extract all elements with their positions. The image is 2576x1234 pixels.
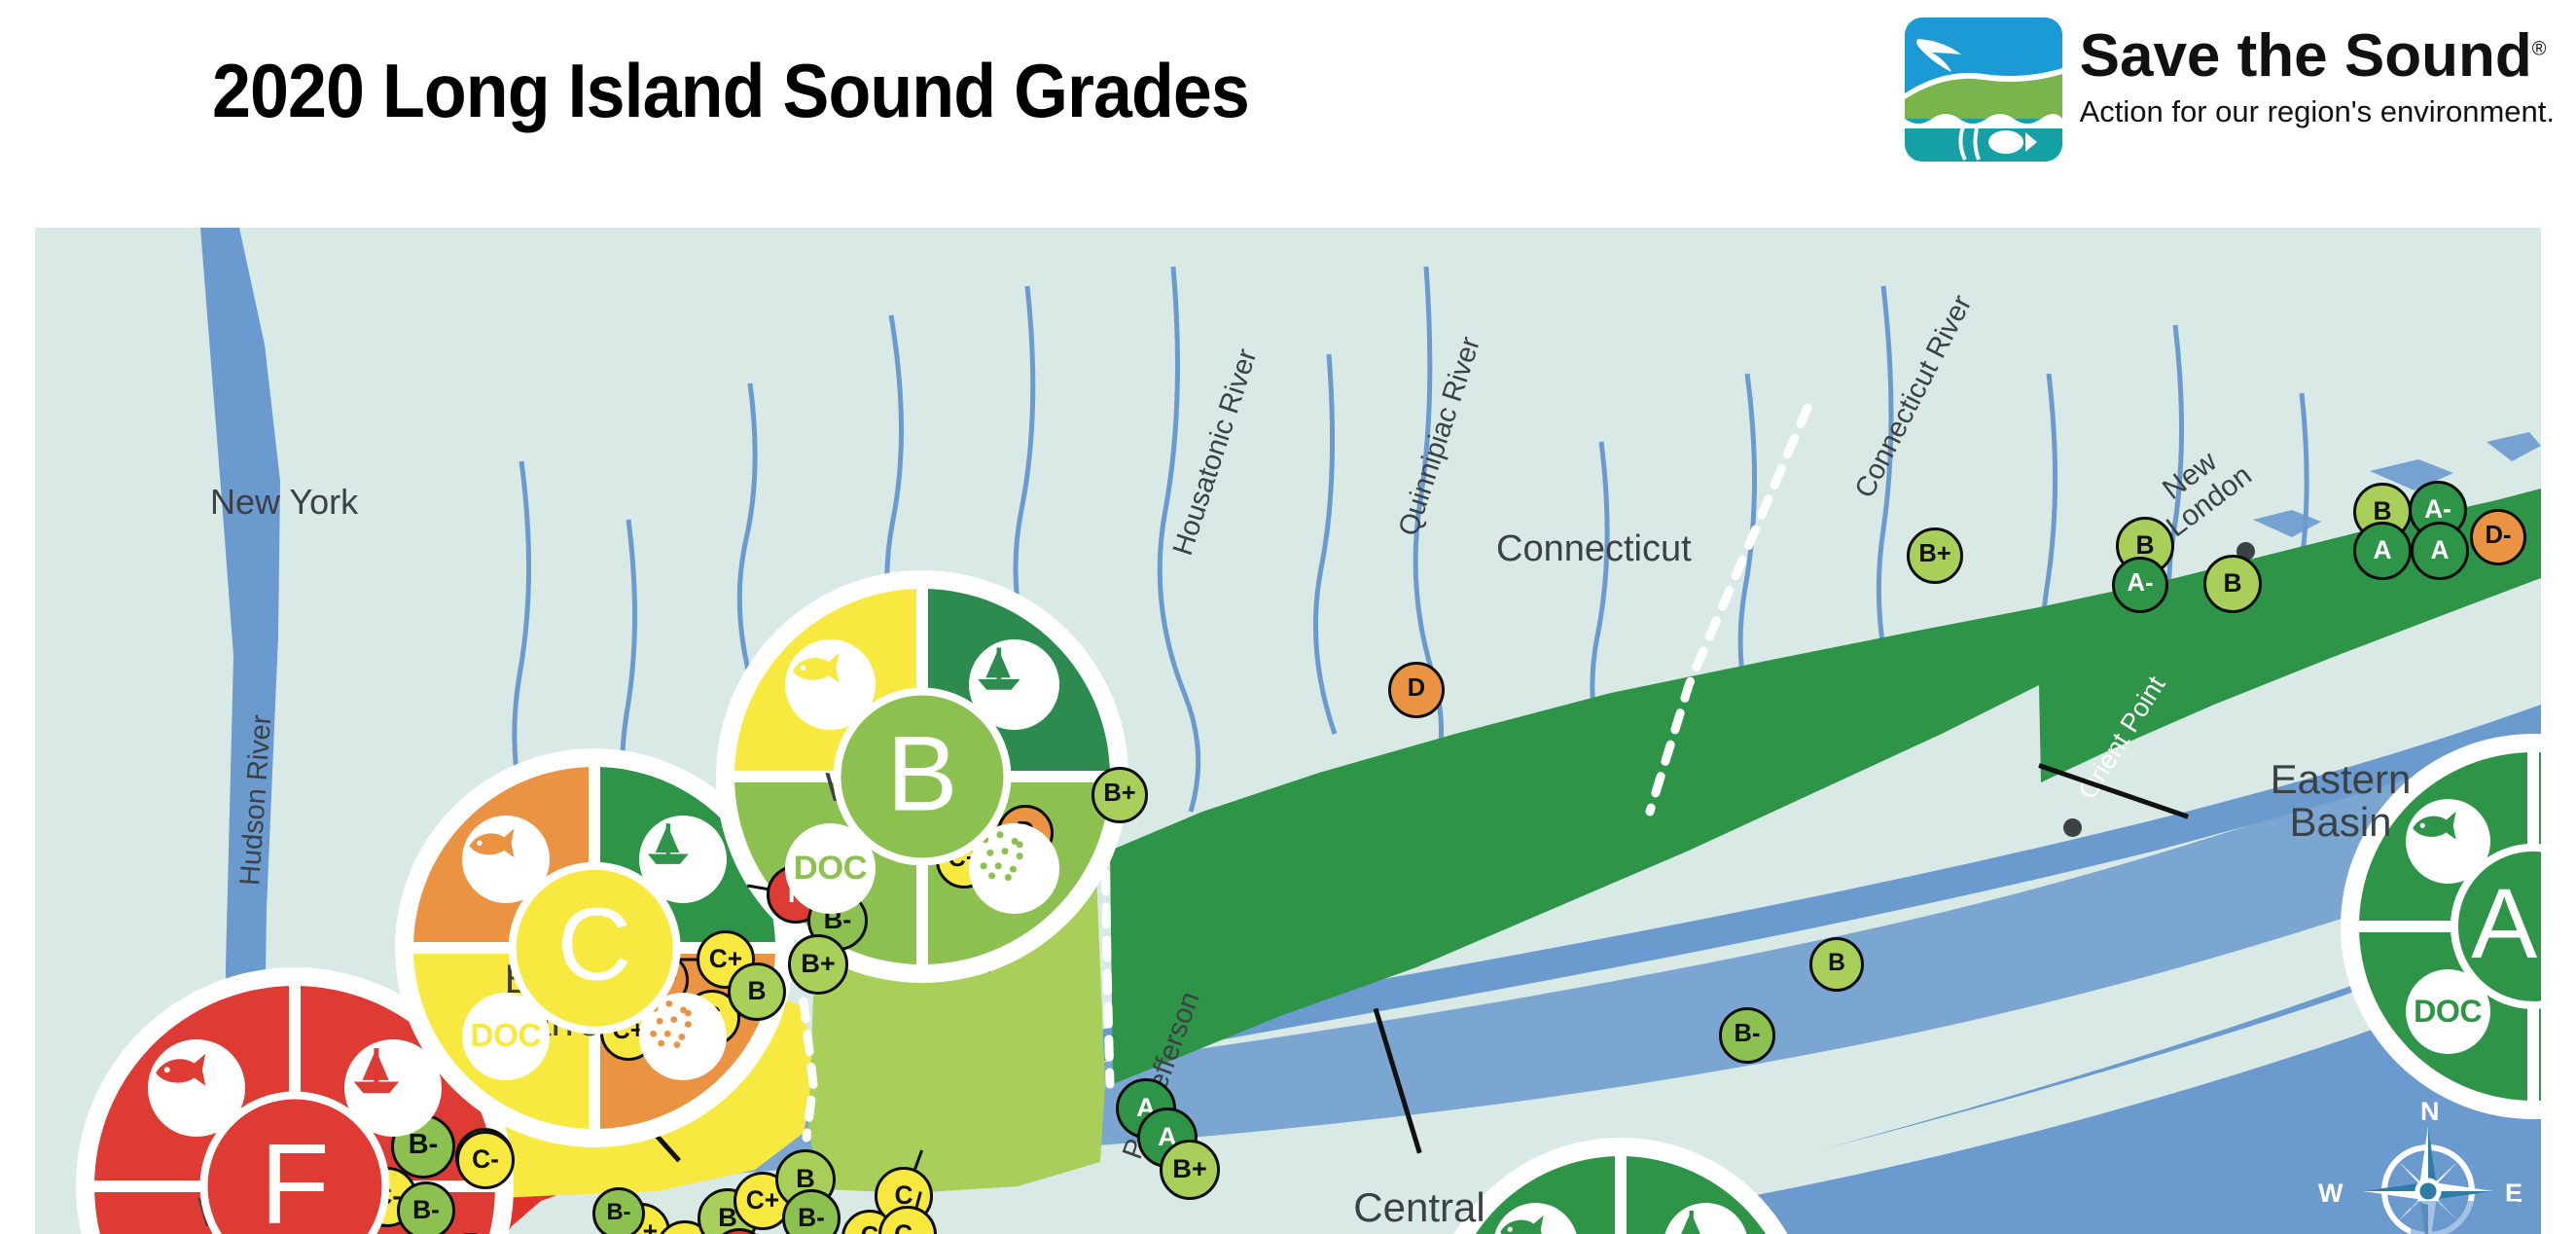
compass-west-label: W — [2318, 1179, 2343, 1209]
grade-pin[interactable]: A- — [2112, 557, 2168, 613]
grade-pin-label: B- — [409, 1131, 439, 1159]
grade-pin-label: A — [2373, 537, 2391, 563]
grade-pin-label: B- — [412, 1197, 440, 1222]
doc-label: DOC — [794, 850, 867, 888]
grade-pin-label: B — [747, 978, 766, 1003]
grade-pin-label: B- — [798, 1205, 825, 1230]
grade-pin[interactable]: B- — [592, 1187, 645, 1234]
grade-pin-label: A- — [2424, 496, 2451, 522]
grade-pin-label: B — [2135, 532, 2154, 558]
doc-label: DOC — [470, 1018, 541, 1055]
basin-grade-text-western-basin: B — [886, 712, 957, 835]
grade-pin-label: C+ — [746, 1187, 779, 1213]
grade-pin-label: B — [796, 1165, 815, 1191]
grade-pin[interactable]: D — [1388, 662, 1445, 718]
grade-pin[interactable]: B- — [397, 1181, 455, 1234]
grade-pin[interactable]: B — [2203, 555, 2262, 613]
grade-pin-label: D — [1408, 676, 1425, 702]
grade-pin-label: D- — [2486, 524, 2512, 549]
map-canvas[interactable]: New YorkConnecticutLong IslandNew York C… — [35, 228, 2541, 1234]
grade-pin[interactable]: B+ — [788, 934, 848, 995]
header: 2020 Long Island Sound Grades — [0, 0, 2576, 226]
grade-pin[interactable]: B+ — [1907, 527, 1963, 584]
grade-pin[interactable]: D- — [2470, 509, 2526, 565]
basin-grade-eastern-narrows: C — [509, 862, 681, 1034]
grade-pin[interactable]: B — [1809, 937, 1864, 992]
grade-pin-label: B — [2373, 498, 2391, 524]
logo-name: Save the Sound — [2080, 22, 2532, 90]
basin-grade-text-eastern-narrows: C — [557, 887, 632, 1004]
compass-north-label: N — [2420, 1097, 2440, 1127]
basin-grade-text-western-narrows: F — [260, 1118, 329, 1234]
grade-pin[interactable]: A — [2411, 522, 2469, 580]
save-the-sound-logo-icon — [1905, 18, 2062, 162]
grade-pin-label: B+ — [801, 950, 836, 976]
grade-pin-label: B+ — [1172, 1155, 1207, 1181]
grade-pin-label: A — [2430, 537, 2449, 563]
grade-pin-label: C — [894, 1182, 912, 1208]
grade-pin-label: B — [1828, 952, 1845, 976]
grade-pin-label: C- — [472, 1146, 499, 1172]
scale-backdrop — [2411, 1201, 2518, 1234]
poster-root: 2020 Long Island Sound Grades — [0, 0, 2576, 1234]
basin-grade-western-basin: B — [833, 687, 1011, 865]
logo-tagline: Action for our region's environment. — [2080, 94, 2555, 129]
grade-pin[interactable]: B+ — [1091, 767, 1148, 823]
brand-logo: Save the Sound® Action for our region's … — [1905, 18, 2555, 162]
grade-pin-label: B- — [606, 1201, 630, 1224]
doc-label: DOC — [2414, 994, 2482, 1030]
page-title: 2020 Long Island Sound Grades — [212, 47, 1249, 135]
basin-grade-text-eastern-basin: A+ — [2471, 867, 2541, 981]
grade-pin-label: B — [2223, 570, 2241, 596]
grade-pin-label: B+ — [1103, 781, 1135, 807]
grade-pin[interactable]: A — [2353, 522, 2412, 580]
grade-pin-label: B- — [1735, 1022, 1761, 1047]
registered-mark: ® — [2532, 38, 2547, 59]
grade-pin[interactable]: B+ — [1160, 1140, 1220, 1200]
grade-pin[interactable]: B- — [1719, 1007, 1775, 1064]
grade-pin[interactable]: C- — [456, 1131, 515, 1189]
orient-point-dot — [2063, 818, 2082, 837]
grade-pin-label: C- — [894, 1221, 921, 1234]
grade-pin[interactable]: B — [728, 962, 786, 1021]
grade-pin-label: C+ — [709, 946, 742, 971]
grade-pin-label: C — [861, 1224, 878, 1234]
logo-wordmark: Save the Sound® Action for our region's … — [2080, 18, 2555, 129]
grade-pin-label: A- — [2128, 571, 2154, 597]
grade-pin-label: B+ — [1918, 542, 1950, 567]
